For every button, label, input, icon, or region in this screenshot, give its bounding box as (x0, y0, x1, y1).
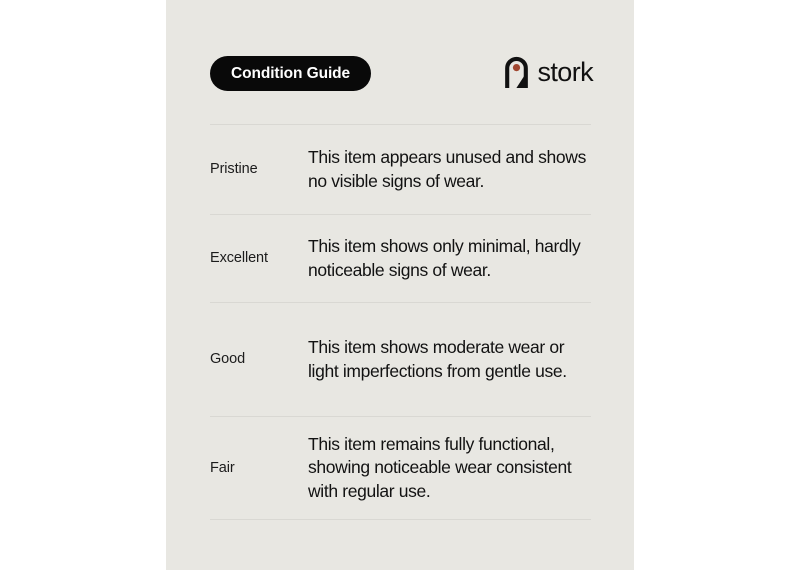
stork-arch-logo-icon (503, 55, 530, 89)
condition-label: Excellent (210, 249, 308, 268)
condition-guide-table: Pristine This item appears unused and sh… (210, 124, 591, 520)
table-row: Good This item shows moderate wear or li… (210, 303, 591, 416)
condition-description: This item remains fully functional, show… (308, 433, 591, 503)
condition-guide-badge[interactable]: Condition Guide (210, 56, 371, 91)
table-row: Excellent This item shows only minimal, … (210, 215, 591, 302)
condition-description: This item shows only minimal, hardly not… (308, 235, 591, 282)
condition-guide-card: Condition Guide stork Pristine This item… (166, 0, 634, 570)
brand-logo[interactable]: stork (503, 52, 593, 92)
condition-label: Pristine (210, 160, 308, 179)
condition-label: Good (210, 350, 308, 369)
condition-label: Fair (210, 459, 308, 478)
card-header: Condition Guide stork (166, 0, 634, 124)
condition-description: This item shows moderate wear or light i… (308, 336, 591, 383)
table-row: Pristine This item appears unused and sh… (210, 125, 591, 214)
brand-name-text: stork (537, 59, 593, 86)
page-root: Condition Guide stork Pristine This item… (0, 0, 800, 570)
condition-description: This item appears unused and shows no vi… (308, 146, 591, 193)
row-divider (210, 519, 591, 520)
table-row: Fair This item remains fully functional,… (210, 417, 591, 519)
